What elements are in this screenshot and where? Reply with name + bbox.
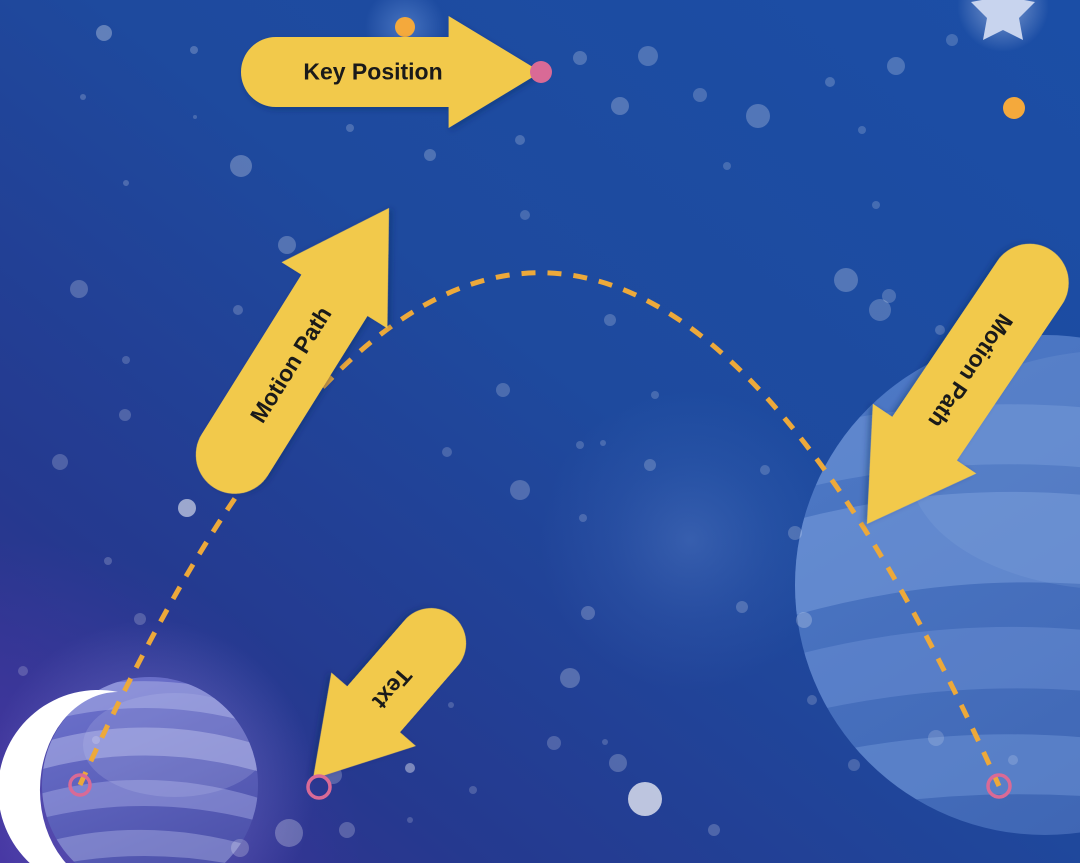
- star-dot: [882, 289, 896, 303]
- star-dot: [736, 601, 748, 613]
- star-dot: [96, 25, 112, 41]
- star-dot: [70, 280, 88, 298]
- star-dot: [788, 526, 802, 540]
- star-dot: [469, 786, 477, 794]
- star-dot: [858, 126, 866, 134]
- star-dot: [760, 465, 770, 475]
- star-dot: [928, 730, 944, 746]
- star-dot: [134, 613, 146, 625]
- star-dot: [611, 97, 629, 115]
- star-dot: [825, 77, 835, 87]
- star-dot: [233, 305, 243, 315]
- star-dot: [872, 201, 880, 209]
- star-dot: [278, 236, 296, 254]
- star-dot: [560, 668, 580, 688]
- star-dot: [18, 666, 28, 676]
- star-dot: [510, 480, 530, 500]
- star-dot: [887, 57, 905, 75]
- star-dot: [1008, 755, 1018, 765]
- star-dot: [834, 268, 858, 292]
- apex-marker[interactable]: [530, 61, 552, 83]
- star-dot: [275, 819, 303, 847]
- star-dot: [190, 46, 198, 54]
- star-dot: [723, 162, 731, 170]
- star-dot: [576, 441, 584, 449]
- star-dot: [442, 447, 452, 457]
- diagram-canvas: [0, 0, 1080, 863]
- star-dot: [708, 824, 720, 836]
- star-dot: [628, 782, 662, 816]
- star-dot: [600, 440, 606, 446]
- star-dot: [405, 763, 415, 773]
- star-dot: [178, 499, 196, 517]
- star-dot: [644, 459, 656, 471]
- star-dot: [193, 115, 197, 119]
- star-dot: [339, 822, 355, 838]
- star-dot: [80, 94, 86, 100]
- orange-dot-right: [1003, 97, 1025, 119]
- star-dot: [579, 514, 587, 522]
- star-dot: [581, 606, 595, 620]
- star-dot: [515, 135, 525, 145]
- star-dot: [651, 391, 659, 399]
- star-dot: [496, 383, 510, 397]
- star-dot: [547, 736, 561, 750]
- star-dot: [638, 46, 658, 66]
- star-dot: [407, 817, 413, 823]
- star-dot: [796, 612, 812, 628]
- star-dot: [693, 88, 707, 102]
- star-dot: [935, 325, 945, 335]
- star-dot: [609, 754, 627, 772]
- star-dot: [92, 736, 100, 744]
- star-dot: [520, 210, 530, 220]
- star-dot: [746, 104, 770, 128]
- star-dot: [123, 180, 129, 186]
- star-dot: [104, 557, 112, 565]
- star-dot: [424, 149, 436, 161]
- star-dot: [573, 51, 587, 65]
- star-dot: [448, 702, 454, 708]
- star-dot: [346, 124, 354, 132]
- star-dot: [946, 34, 958, 46]
- space-motion-path-diagram: Key PositionMotion PathMotion PathText: [0, 0, 1080, 863]
- star-dot: [604, 314, 616, 326]
- star-dot: [602, 739, 608, 745]
- star-dot: [122, 356, 130, 364]
- star-dot: [230, 155, 252, 177]
- star-dot: [52, 454, 68, 470]
- star-dot: [119, 409, 131, 421]
- star-dot: [807, 695, 817, 705]
- star-dot: [848, 759, 860, 771]
- star-dot: [231, 839, 249, 857]
